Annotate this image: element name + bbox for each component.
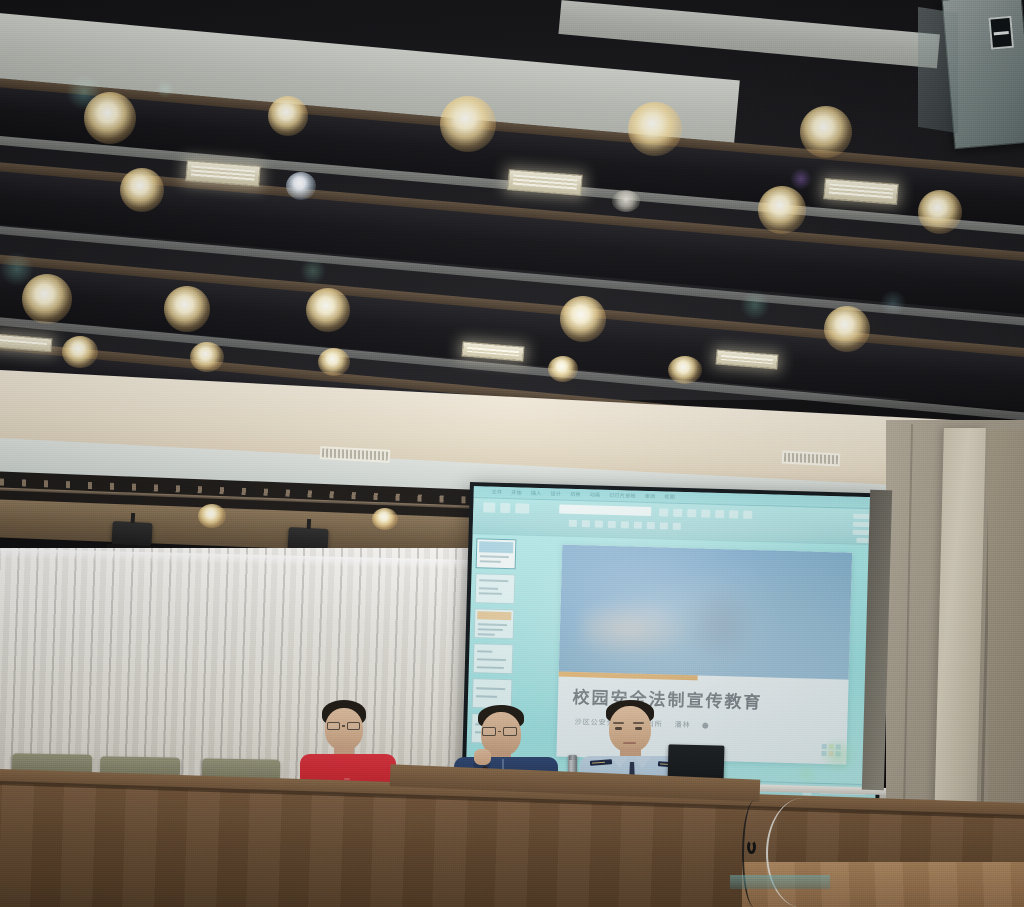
thumbnail-accent-bar	[477, 611, 511, 620]
cable-hook	[747, 840, 756, 854]
ppt-menu-item[interactable]: 审阅	[645, 493, 656, 500]
ribbon-button[interactable]	[608, 521, 616, 528]
thumbnail-text-line	[477, 658, 506, 661]
slide-thumbnail[interactable]	[476, 538, 517, 569]
ppt-font-field[interactable]	[559, 505, 651, 517]
slide-photo	[559, 545, 852, 680]
ceiling-spotlight	[268, 96, 308, 136]
ribbon-button[interactable]	[701, 509, 710, 517]
ceiling-spotlight	[628, 102, 682, 156]
auditorium-photo: 文件 开始 插入 设计 切换 动画 幻灯片放映 审阅 视图	[0, 0, 1024, 907]
ceiling-spotlight	[560, 296, 606, 342]
thumbnail-text-line	[478, 633, 495, 635]
glasses-icon	[482, 727, 517, 736]
ceiling-spotlight	[120, 168, 164, 212]
ribbon-button[interactable]	[673, 509, 682, 517]
ribbon-button[interactable]	[515, 503, 529, 513]
ceiling-spotlight	[548, 356, 578, 382]
ceiling-spotlight	[318, 348, 350, 376]
thumbnail-text-line	[477, 650, 492, 652]
ceiling-spotlight	[612, 190, 640, 212]
stage-ceiling-lamp	[198, 504, 226, 528]
ceiling-spotlight	[164, 286, 210, 332]
ceiling-spotlight	[84, 92, 136, 144]
ribbon-button[interactable]	[595, 521, 603, 528]
bridge	[498, 731, 501, 732]
projector-color-blob	[816, 738, 861, 773]
hand-at-chin	[474, 749, 491, 765]
bridge	[342, 725, 345, 726]
mouth	[623, 742, 636, 744]
ribbon-button[interactable]	[569, 520, 577, 527]
floor-gap-shadow	[730, 875, 830, 889]
ribbon-button[interactable]	[483, 502, 495, 512]
speaker-grille	[988, 15, 1014, 49]
ppt-ribbon-row-bottom	[569, 520, 681, 530]
ribbon-button[interactable]	[660, 522, 668, 529]
ribbon-button[interactable]	[715, 510, 724, 518]
thumbnail-text-line	[477, 666, 504, 669]
eye-left	[615, 727, 622, 730]
ppt-menu-item[interactable]: 设计	[550, 490, 561, 497]
thumbnail-text-line	[480, 555, 509, 558]
slide-thumbnail[interactable]	[475, 573, 516, 604]
thumbnail-text-line	[476, 687, 505, 690]
eye-right	[635, 727, 642, 730]
lens-left	[327, 722, 340, 730]
ppt-ribbon-row-mid	[659, 508, 752, 519]
ceiling-spotlight	[800, 106, 852, 158]
ppt-menu-item[interactable]: 动画	[590, 491, 601, 498]
ppt-menu-item[interactable]: 开始	[511, 489, 522, 496]
ppt-ribbon-row-top	[483, 502, 529, 513]
ribbon-button[interactable]	[673, 523, 681, 530]
ppt-menu-item[interactable]: 插入	[531, 490, 542, 497]
ppt-menu-item[interactable]: 文件	[492, 489, 503, 496]
thumbnail-text-line	[478, 623, 507, 626]
ribbon-button[interactable]	[647, 522, 655, 529]
thumbnail-text-line	[479, 587, 498, 590]
thumbnail-text-line	[479, 592, 502, 595]
eyebrow-right	[633, 722, 644, 724]
hanging-cable-dark	[742, 800, 768, 907]
bullet-dot-icon	[703, 722, 709, 728]
ribbon-button[interactable]	[659, 508, 668, 516]
thumbnail-image	[479, 541, 513, 553]
ppt-menu-item[interactable]: 幻灯片放映	[609, 492, 636, 500]
stage-spotlight	[111, 521, 152, 549]
thumbnail-text-line	[480, 560, 501, 563]
ceiling-spotlight	[758, 186, 806, 234]
ppt-menu-item[interactable]: 切换	[570, 491, 581, 498]
slide-thumbnail[interactable]	[474, 608, 515, 639]
ceiling-spotlight	[824, 306, 870, 352]
ceiling-spotlight	[286, 172, 316, 200]
ceiling-spotlight	[306, 288, 350, 332]
lens-left	[482, 727, 496, 736]
slide-thumbnail[interactable]	[473, 643, 514, 674]
ribbon-button[interactable]	[582, 520, 590, 527]
thumbnail-text-line	[479, 579, 508, 582]
ceiling-spotlight	[668, 356, 702, 384]
speaker-bracket	[918, 7, 958, 133]
thumbnail-text-line	[476, 695, 497, 698]
ceiling-spotlight	[22, 274, 72, 324]
ribbon-button[interactable]	[687, 509, 696, 517]
ribbon-button[interactable]	[500, 503, 510, 513]
lens-right	[347, 722, 360, 730]
ribbon-button[interactable]	[729, 510, 738, 518]
ceiling-spotlight	[440, 96, 496, 152]
ribbon-button[interactable]	[634, 522, 642, 529]
hanging-cable-white	[766, 798, 840, 907]
projector-color-blob	[794, 763, 821, 784]
ppt-menu-item[interactable]: 视图	[664, 493, 675, 500]
thumbnail-text-line	[478, 628, 503, 631]
ribbon-button[interactable]	[743, 511, 752, 519]
ceiling-spotlight	[190, 342, 224, 372]
eyebrow-left	[613, 722, 624, 724]
ribbon-button[interactable]	[621, 521, 629, 528]
glasses-icon	[327, 722, 360, 730]
lens-right	[503, 727, 517, 736]
stage-ceiling-lamp	[372, 508, 398, 530]
ceiling-spotlight	[918, 190, 962, 234]
ceiling-spotlight	[62, 336, 98, 368]
